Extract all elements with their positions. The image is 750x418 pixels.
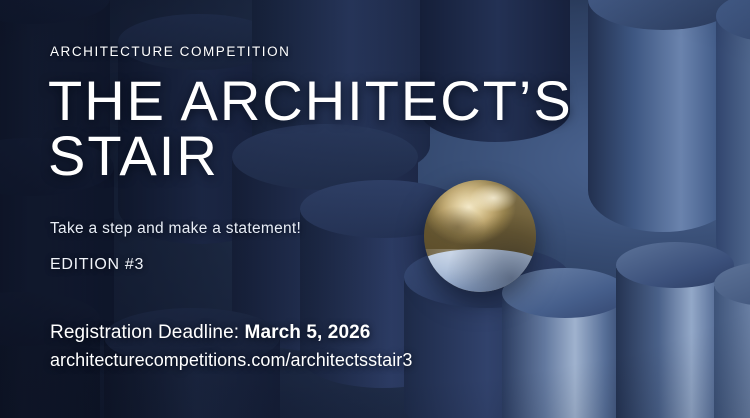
cylinder-far-right-edge [716,0,750,290]
cylinder-bottom-far-right [714,262,750,418]
cylinder-bottom-left [0,292,100,418]
cylinder-body [714,286,750,418]
cylinder-body [420,0,570,142]
gold-and-blue-sphere [424,180,536,292]
cylinder-bottom-center-left [104,308,280,418]
cylinder-body [716,16,750,290]
sphere-shading-overlay [424,180,536,292]
background-scene [0,0,750,418]
cylinder-top-right-dark [420,0,570,142]
architecture-competition-poster: ARCHITECTURE COMPETITION THE ARCHITECT’S… [0,0,750,418]
cylinder-top [104,308,280,366]
